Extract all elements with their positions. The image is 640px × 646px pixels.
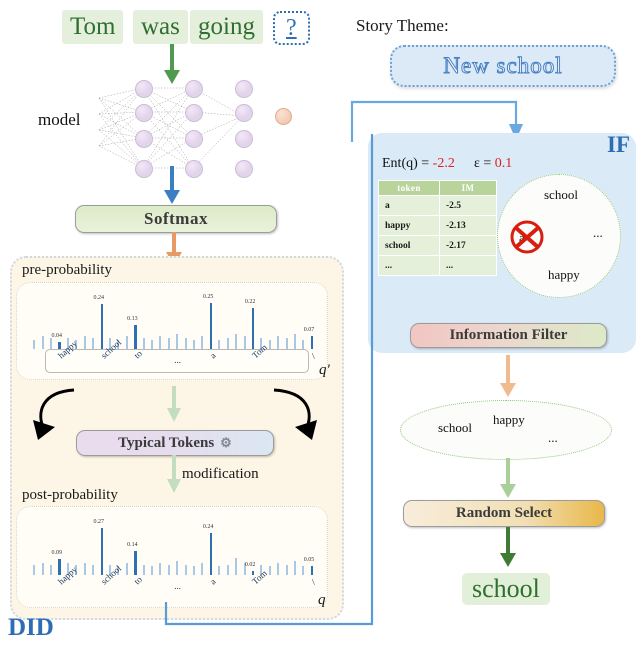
bar [126,336,128,349]
cell-im: -2.5 [440,196,497,216]
bar [101,304,103,349]
cell-token: a [379,196,440,216]
model-label: model [38,110,81,130]
bar [126,563,128,575]
filtered-item-happy: happy [493,412,525,428]
next-token-placeholder: ? [273,11,310,45]
bar [143,338,145,349]
bar-value-label: 0.24 [94,295,105,301]
im-table: token IM a-2.5happy-2.13school-2.17.....… [378,180,497,276]
context-token-1: was [133,10,188,44]
final-token-output: school [462,573,550,605]
entropy-label: Ent(q) = [382,156,429,171]
bar [92,338,94,349]
bar [151,340,153,349]
cell-im: ... [440,256,497,276]
table-row: school-2.17 [379,236,497,256]
post-probability-title: post-probability [22,487,118,504]
bar [33,340,35,349]
bar [151,566,153,575]
bar [134,551,136,575]
bar [101,528,103,575]
candidate-item-happy: happy [548,267,580,283]
entropy-value: -2.2 [433,156,455,171]
x-axis-label: to [132,348,144,360]
cell-token: happy [379,216,440,236]
bar [50,338,52,349]
bar-value-label: 0.09 [51,550,62,556]
bar-value-label: 0.27 [94,519,105,525]
if-flag: IF [607,132,630,158]
table-row: ...... [379,256,497,276]
story-theme-label: Story Theme: [356,16,449,36]
entropy-readout: Ent(q) = -2.2 [382,156,455,172]
x-axis-label: to [132,574,144,586]
red-cross-out-icon [505,216,549,260]
epsilon-label: ε = [474,156,491,171]
epsilon-readout: ε = 0.1 [474,156,512,172]
table-header-row: token IM [379,181,497,196]
bar-value-label: 0.04 [51,333,62,339]
random-select-label: Random Select [456,505,552,522]
bar-value-label: 0.14 [127,542,138,548]
cell-token: ... [379,256,440,276]
arrow-set-to-random-select [497,458,519,500]
filtered-item-ellipsis: ... [548,430,558,446]
arrow-random-select-to-output [497,527,519,569]
bar [84,563,86,575]
story-theme-box[interactable]: New school [390,45,616,87]
candidate-item-school: school [544,187,578,203]
information-filter-box[interactable]: Information Filter [410,323,607,348]
cell-im: -2.13 [440,216,497,236]
filtered-item-school: school [438,420,472,436]
candidate-item-ellipsis: ... [593,225,603,241]
arrow-if-to-filtered-set [497,355,519,399]
bar [58,559,60,575]
connector-if-to-did [160,132,376,628]
bar [33,565,35,575]
information-filter-label: Information Filter [450,327,568,344]
bar-value-label: 0.13 [127,316,138,322]
bar [42,563,44,575]
bar [134,325,136,349]
filtered-token-set [400,400,612,460]
table-row: happy-2.13 [379,216,497,236]
random-select-box[interactable]: Random Select [403,500,605,527]
column-header-token: token [379,181,440,196]
table-row: a-2.5 [379,196,497,216]
bar [84,336,86,349]
pre-probability-title: pre-probability [22,262,112,279]
column-header-im: IM [440,181,497,196]
context-token-0: Tom [62,10,123,44]
context-token-2: going [190,10,263,44]
bar [92,565,94,575]
bar [143,565,145,575]
did-flag: DID [8,614,54,642]
story-theme-value: New school [443,53,562,79]
bar [42,336,44,349]
bar [50,565,52,575]
cell-token: school [379,236,440,256]
epsilon-value: 0.1 [495,156,513,171]
cell-im: -2.17 [440,236,497,256]
